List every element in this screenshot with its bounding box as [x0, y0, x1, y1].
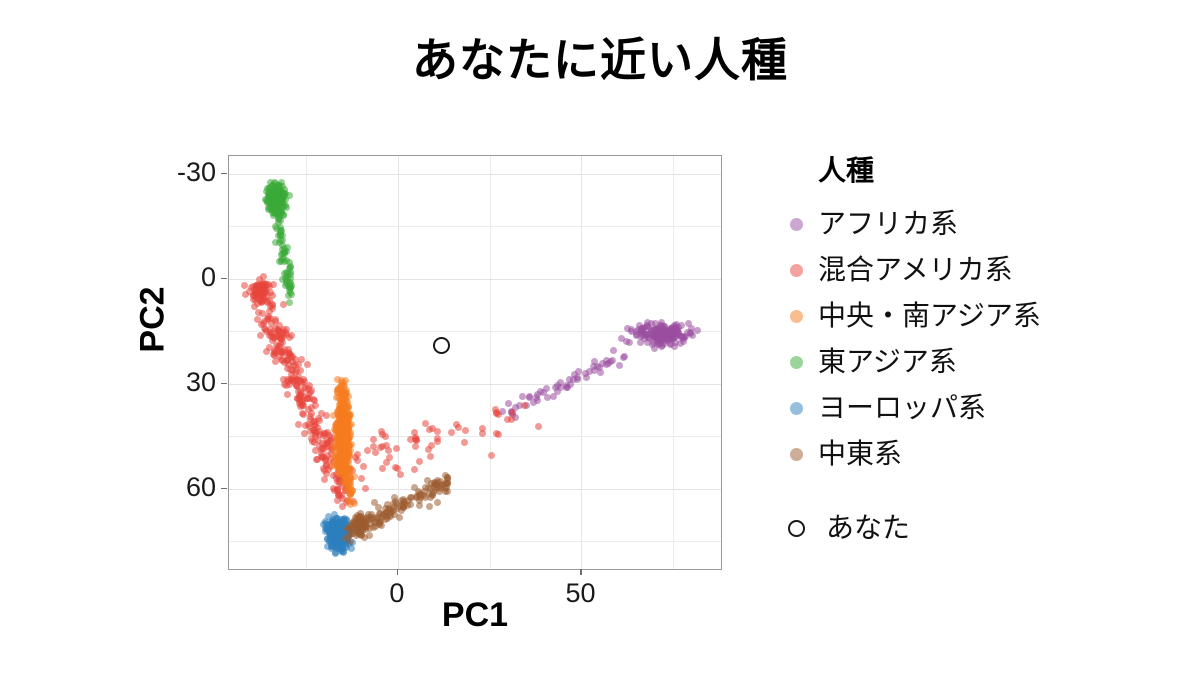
scatter-point [285, 361, 292, 368]
scatter-point [341, 452, 348, 459]
scatter-point [328, 531, 335, 538]
scatter-point [330, 523, 337, 530]
scatter-point [328, 525, 335, 532]
scatter-point [341, 438, 348, 445]
scatter-point [386, 512, 393, 519]
scatter-point [337, 525, 344, 532]
y-tick-label: 30 [16, 369, 216, 396]
scatter-point [279, 190, 286, 197]
scatter-point [336, 462, 343, 469]
scatter-point [338, 524, 345, 531]
scatter-point [330, 536, 337, 543]
scatter-point [343, 426, 350, 433]
scatter-point [341, 418, 348, 425]
legend-item[interactable]: 東アジア系 [775, 339, 1175, 385]
scatter-point [333, 475, 340, 482]
scatter-point [338, 531, 345, 538]
scatter-point [279, 193, 286, 200]
scatter-point [276, 198, 283, 205]
scatter-point [334, 526, 341, 533]
legend-item[interactable]: 中央・南アジア系 [775, 293, 1175, 339]
scatter-point [356, 521, 363, 528]
scatter-point [330, 529, 337, 536]
scatter-point [339, 503, 346, 510]
scatter-point [330, 530, 337, 537]
scatter-point [374, 514, 381, 521]
gridline-horizontal [229, 436, 721, 437]
scatter-point [334, 532, 341, 539]
scatter-point [657, 335, 664, 342]
scatter-point [329, 530, 336, 537]
scatter-point [372, 523, 379, 530]
scatter-point [279, 246, 286, 253]
scatter-point [279, 349, 286, 356]
scatter-point [362, 521, 369, 528]
legend-item-you[interactable]: あなた [775, 505, 1175, 551]
legend-item[interactable]: 中東系 [775, 431, 1175, 477]
scatter-point [336, 527, 343, 534]
scatter-point [339, 398, 346, 405]
scatter-point [354, 512, 361, 519]
scatter-point [280, 212, 287, 219]
scatter-point [278, 197, 285, 204]
scatter-point [382, 505, 389, 512]
you-marker-icon [433, 337, 450, 354]
scatter-point [344, 409, 351, 416]
scatter-point [269, 198, 276, 205]
scatter-point [650, 334, 657, 341]
scatter-point [254, 287, 261, 294]
scatter-point [270, 199, 277, 206]
scatter-point [327, 526, 334, 533]
scatter-point [330, 522, 337, 529]
scatter-point [654, 331, 661, 338]
y-tick-label: -30 [16, 159, 216, 186]
scatter-point [266, 189, 273, 196]
scatter-point [358, 518, 365, 525]
scatter-point [343, 398, 350, 405]
scatter-point [591, 358, 598, 365]
scatter-point [334, 376, 341, 383]
legend-key-dot-icon [775, 218, 818, 231]
scatter-point [272, 187, 279, 194]
gridline-horizontal [229, 384, 721, 385]
scatter-point [344, 480, 351, 487]
scatter-point [272, 204, 279, 211]
scatter-point [336, 413, 343, 420]
scatter-point [267, 303, 274, 310]
scatter-point [328, 542, 335, 549]
scatter-point [371, 499, 378, 506]
scatter-point [623, 338, 630, 345]
scatter-point [344, 453, 351, 460]
scatter-point [343, 450, 350, 457]
scatter-point [444, 480, 451, 487]
scatter-point [267, 193, 274, 200]
scatter-point [333, 427, 340, 434]
scatter-point [334, 462, 341, 469]
scatter-point [274, 346, 281, 353]
scatter-point [289, 367, 296, 374]
scatter-point [335, 531, 342, 538]
scatter-point [333, 445, 340, 452]
scatter-point [361, 524, 368, 531]
scatter-point [328, 527, 335, 534]
scatter-point [334, 533, 341, 540]
scatter-point [327, 533, 334, 540]
scatter-point [664, 329, 671, 336]
scatter-point [337, 523, 344, 530]
scatter-point [327, 456, 334, 463]
scatter-point [323, 412, 330, 419]
scatter-point [655, 340, 662, 347]
scatter-point [659, 331, 666, 338]
scatter-point [645, 331, 652, 338]
scatter-point [643, 323, 650, 330]
scatter-point [275, 182, 282, 189]
scatter-point [336, 524, 343, 531]
scatter-point [680, 338, 687, 345]
scatter-point [262, 196, 269, 203]
scatter-point [396, 503, 403, 510]
scatter-point [278, 258, 285, 265]
scatter-point [265, 313, 272, 320]
scatter-point [278, 251, 285, 258]
scatter-point [317, 431, 324, 438]
scatter-point [337, 448, 344, 455]
scatter-point [391, 511, 398, 518]
scatter-point [337, 533, 344, 540]
scatter-point [273, 204, 280, 211]
scatter-point [340, 532, 347, 539]
scatter-point [356, 530, 363, 537]
scatter-point [689, 332, 696, 339]
scatter-point [337, 471, 344, 478]
scatter-point [537, 388, 544, 395]
scatter-point [347, 411, 354, 418]
scatter-point [519, 393, 526, 400]
scatter-point [297, 403, 304, 410]
scatter-point [343, 476, 350, 483]
scatter-point [344, 536, 351, 543]
scatter-point [277, 209, 284, 216]
scatter-point [298, 356, 305, 363]
scatter-point [342, 453, 349, 460]
scatter-point [353, 519, 360, 526]
scatter-point [353, 521, 360, 528]
y-axis-label: PC2 [134, 286, 173, 352]
scatter-point [462, 427, 469, 434]
scatter-point [336, 451, 343, 458]
scatter-point [338, 547, 345, 554]
scatter-point [342, 520, 349, 527]
scatter-point [328, 450, 335, 457]
scatter-point [444, 479, 451, 486]
scatter-point [338, 390, 345, 397]
scatter-point [356, 516, 363, 523]
scatter-point [342, 450, 349, 457]
scatter-point [508, 416, 515, 423]
scatter-point [330, 532, 337, 539]
scatter-point [656, 336, 663, 343]
gridline-horizontal [229, 541, 721, 542]
scatter-point [345, 527, 352, 534]
scatter-point [339, 445, 346, 452]
scatter-point [341, 440, 348, 447]
scatter-point [678, 322, 685, 329]
scatter-panel [228, 155, 722, 570]
scatter-point [242, 291, 249, 298]
scatter-point [368, 511, 375, 518]
scatter-point [337, 533, 344, 540]
scatter-point [286, 287, 293, 294]
scatter-point [644, 322, 651, 329]
scatter-point [268, 194, 275, 201]
scatter-point [339, 401, 346, 408]
scatter-point [666, 329, 673, 336]
scatter-point [337, 534, 344, 541]
scatter-point [268, 190, 275, 197]
scatter-point [422, 494, 429, 501]
scatter-point [271, 187, 278, 194]
scatter-point [275, 201, 282, 208]
scatter-point [350, 522, 357, 529]
scatter-point [336, 401, 343, 408]
scatter-point [365, 511, 372, 518]
scatter-point [268, 186, 275, 193]
scatter-point [336, 451, 343, 458]
scatter-point [344, 418, 351, 425]
scatter-point [296, 392, 303, 399]
scatter-point [324, 439, 331, 446]
scatter-point [563, 384, 570, 391]
scatter-point [390, 507, 397, 514]
scatter-point [277, 190, 284, 197]
scatter-point [341, 427, 348, 434]
scatter-point [335, 385, 342, 392]
scatter-point [335, 520, 342, 527]
scatter-point [382, 516, 389, 523]
legend-item[interactable]: 混合アメリカ系 [775, 247, 1175, 293]
scatter-point [343, 476, 350, 483]
scatter-point [370, 436, 377, 443]
scatter-point [353, 532, 360, 539]
scatter-point [258, 299, 265, 306]
scatter-point [338, 456, 345, 463]
scatter-point [333, 534, 340, 541]
scatter-point [338, 453, 345, 460]
scatter-point [321, 467, 328, 474]
scatter-point [411, 484, 418, 491]
scatter-point [302, 385, 309, 392]
scatter-point [264, 299, 271, 306]
scatter-point [346, 527, 353, 534]
scatter-point [268, 202, 275, 209]
scatter-point [319, 440, 326, 447]
scatter-point [340, 531, 347, 538]
scatter-point [657, 322, 664, 329]
scatter-point [271, 188, 278, 195]
scatter-point [361, 519, 368, 526]
scatter-point [354, 519, 361, 526]
scatter-point [272, 202, 279, 209]
scatter-point [339, 428, 346, 435]
scatter-point [256, 285, 263, 292]
scatter-point [434, 477, 441, 484]
scatter-point [508, 409, 515, 416]
scatter-point [659, 324, 666, 331]
legend-item[interactable]: アフリカ系 [775, 201, 1175, 247]
scatter-point [379, 443, 386, 450]
scatter-point [282, 329, 289, 336]
scatter-point [353, 522, 360, 529]
scatter-point [340, 453, 347, 460]
scatter-point [278, 349, 285, 356]
scatter-point [342, 456, 349, 463]
scatter-point [342, 543, 349, 550]
scatter-point [250, 292, 257, 299]
scatter-point [272, 192, 279, 199]
scatter-point [586, 368, 593, 375]
scatter-point [330, 533, 337, 540]
scatter-point [359, 527, 366, 534]
scatter-point [322, 528, 329, 535]
scatter-point [273, 342, 280, 349]
scatter-point [358, 531, 365, 538]
scatter-point [331, 531, 338, 538]
scatter-point [337, 414, 344, 421]
scatter-point [266, 283, 273, 290]
scatter-point [272, 195, 279, 202]
scatter-point [330, 443, 337, 450]
scatter-point [339, 545, 346, 552]
scatter-point [658, 332, 665, 339]
scatter-point [279, 204, 286, 211]
scatter-point [286, 265, 293, 272]
scatter-point [253, 291, 260, 298]
scatter-point [333, 530, 340, 537]
scatter-point [341, 467, 348, 474]
scatter-point [330, 526, 337, 533]
scatter-point [270, 195, 277, 202]
scatter-point [267, 196, 274, 203]
scatter-point [335, 534, 342, 541]
scatter-point [338, 429, 345, 436]
scatter-point [274, 190, 281, 197]
scatter-point [278, 202, 285, 209]
scatter-point [340, 428, 347, 435]
scatter-point [339, 389, 346, 396]
scatter-point [341, 427, 348, 434]
scatter-point [266, 308, 273, 315]
scatter-point [330, 527, 337, 534]
scatter-point [258, 289, 265, 296]
scatter-point [270, 200, 277, 207]
scatter-point [342, 419, 349, 426]
scatter-point [400, 504, 407, 511]
scatter-point [342, 421, 349, 428]
scatter-point [360, 522, 367, 529]
scatter-point [342, 530, 349, 537]
y-tick-label: 60 [16, 474, 216, 501]
scatter-point [312, 431, 319, 438]
legend-item[interactable]: ヨーロッパ系 [775, 385, 1175, 431]
scatter-point [274, 326, 281, 333]
scatter-point [248, 284, 255, 291]
scatter-point [260, 282, 267, 289]
scatter-point [283, 357, 290, 364]
scatter-point [336, 528, 343, 535]
scatter-point [278, 336, 285, 343]
scatter-point [272, 185, 279, 192]
scatter-point [341, 520, 348, 527]
scatter-point [350, 530, 357, 537]
scatter-point [269, 182, 276, 189]
scatter-point [287, 279, 294, 286]
scatter-point [338, 543, 345, 550]
scatter-point [336, 526, 343, 533]
scatter-point [346, 526, 353, 533]
scatter-point [334, 464, 341, 471]
scatter-point [263, 197, 270, 204]
scatter-point [269, 191, 276, 198]
scatter-point [282, 282, 289, 289]
scatter-point [296, 397, 303, 404]
scatter-point [336, 465, 343, 472]
scatter-point [530, 399, 537, 406]
scatter-point [431, 479, 438, 486]
scatter-point [334, 454, 341, 461]
scatter-point [408, 494, 415, 501]
scatter-point [434, 499, 441, 506]
scatter-point [333, 524, 340, 531]
scatter-point [269, 194, 276, 201]
scatter-point [264, 298, 271, 305]
scatter-point [264, 185, 271, 192]
scatter-point [320, 465, 327, 472]
scatter-point [335, 533, 342, 540]
scatter-point [335, 523, 342, 530]
scatter-point [353, 526, 360, 533]
scatter-point [323, 462, 330, 469]
scatter-point [333, 422, 340, 429]
scatter-point [343, 427, 350, 434]
legend-key-dot-icon [775, 310, 818, 323]
scatter-point [390, 500, 397, 507]
scatter-point [341, 466, 348, 473]
scatter-point [322, 520, 329, 527]
scatter-point [292, 362, 299, 369]
scatter-point [334, 528, 341, 535]
scatter-point [332, 531, 339, 538]
scatter-point [281, 245, 288, 252]
scatter-point [304, 361, 311, 368]
scatter-point [333, 515, 340, 522]
scatter-point [322, 525, 329, 532]
scatter-point [345, 412, 352, 419]
scatter-point [324, 543, 331, 550]
scatter-point [270, 198, 277, 205]
scatter-point [338, 407, 345, 414]
scatter-point [337, 450, 344, 457]
scatter-point [274, 200, 281, 207]
scatter-point [269, 192, 276, 199]
scatter-point [341, 469, 348, 476]
scatter-point [376, 510, 383, 517]
scatter-point [277, 189, 284, 196]
scatter-point [271, 352, 278, 359]
scatter-point [347, 491, 354, 498]
